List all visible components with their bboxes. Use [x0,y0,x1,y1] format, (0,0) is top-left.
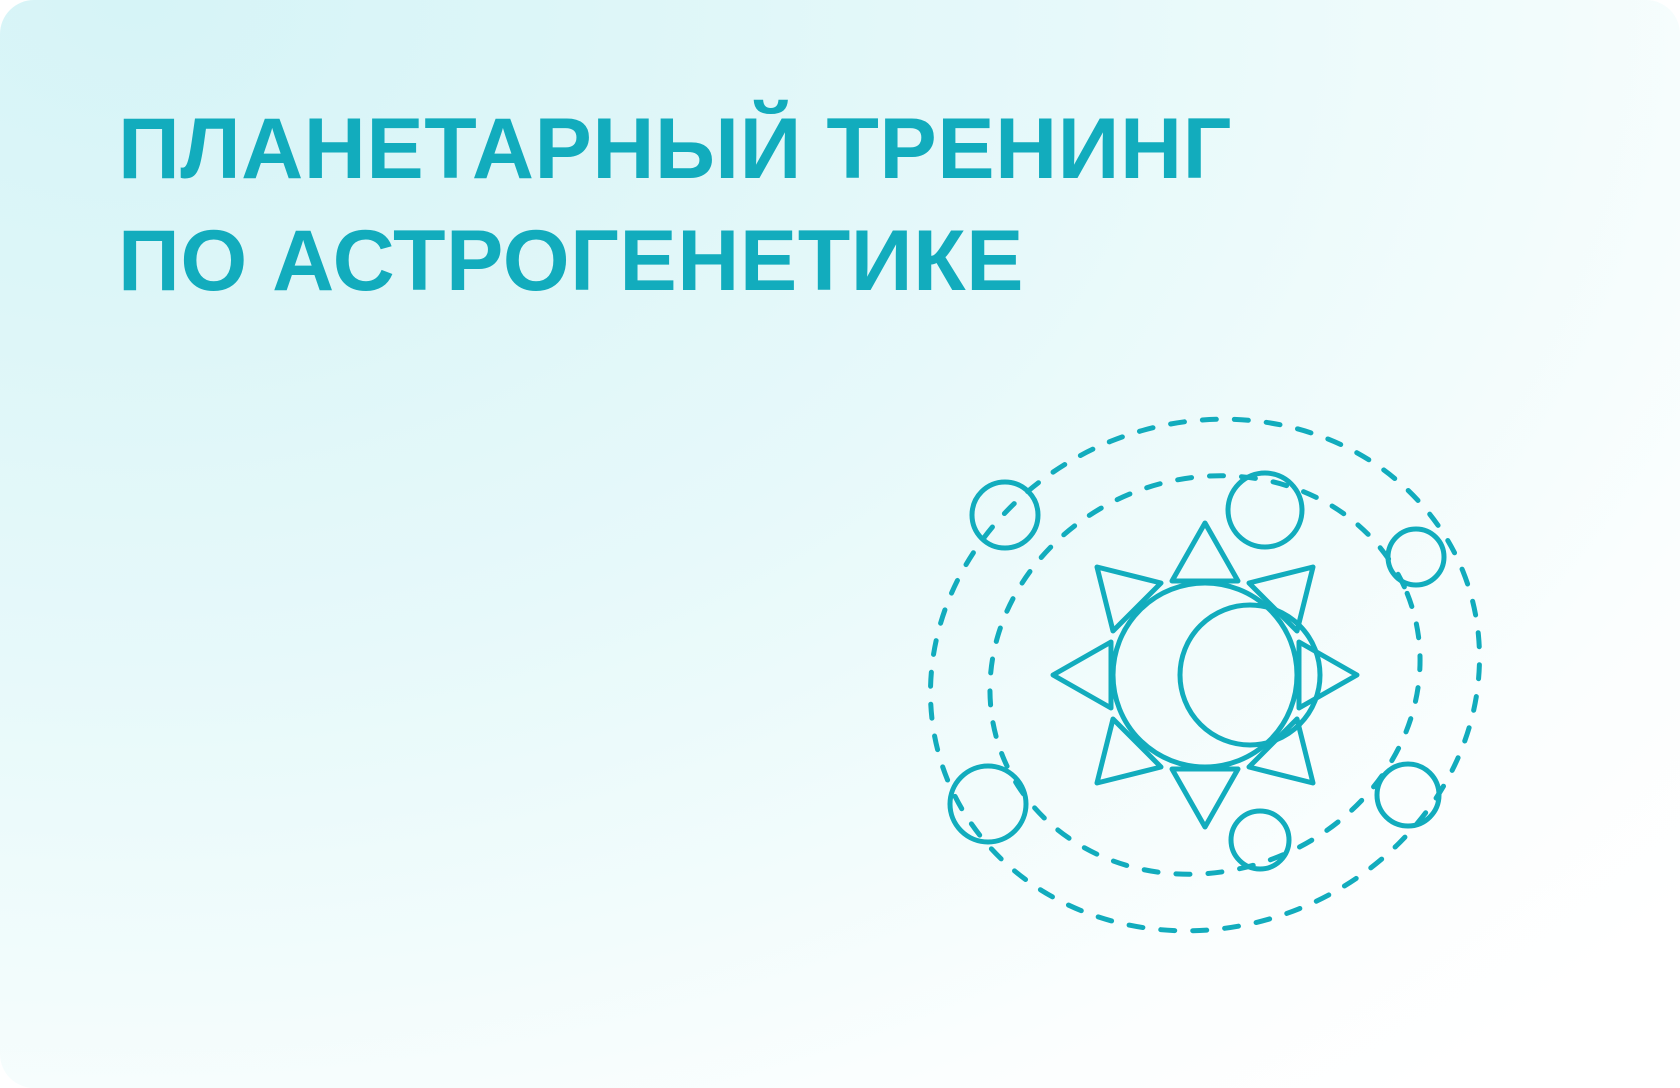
sun-ray-icon [1172,523,1238,581]
planet-node-lower-mid [1231,811,1289,869]
astro-orbit-sun-moon-illustration [905,385,1505,965]
sun-ray-icon [1299,642,1357,708]
page-title: ПЛАНЕТАРНЫЙ ТРЕНИНГ ПО АСТРОГЕНЕТИКЕ [118,94,1478,318]
sun-ray-icon [1053,642,1111,708]
sun-ray-icon [1172,769,1238,827]
planet-node-upper-right [1228,473,1302,547]
title-line-2: ПО АСТРОГЕНЕТИКЕ [118,206,1478,318]
inner-dashed-orbit-path [929,412,1480,939]
planet-node-right [1388,529,1444,585]
sun-rays-group [1053,523,1357,827]
title-line-1: ПЛАНЕТАРНЫЙ ТРЕНИНГ [118,94,1478,206]
promo-card: ПЛАНЕТАРНЫЙ ТРЕНИНГ ПО АСТРОГЕНЕТИКЕ [0,0,1680,1088]
sun-circle-icon [1113,583,1297,767]
planet-node-lower-right [1377,764,1439,826]
outer-dashed-orbit-path [905,385,1505,965]
